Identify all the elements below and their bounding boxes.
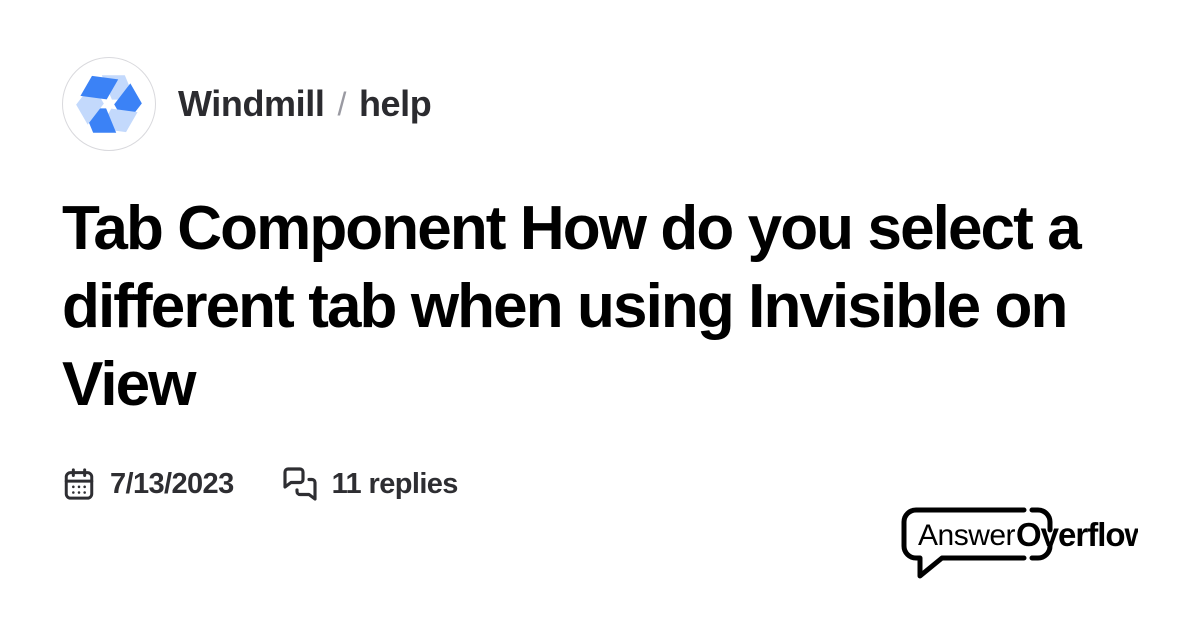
messages-square-icon [282,466,318,502]
reply-count: 11 replies [332,470,458,499]
breadcrumb: Windmill / help [178,86,431,122]
breadcrumb-server-name: Windmill [178,86,324,122]
server-header: Windmill / help [62,56,1138,152]
calendar-icon [62,467,96,501]
thread-meta: 7/13/2023 11 replies [62,466,458,502]
open-graph-card: Windmill / help Tab Component How do you… [0,0,1200,630]
windmill-pinwheel-logo-icon [73,68,145,140]
meta-item-replies: 11 replies [282,466,458,502]
answer-overflow-light-word: Answer [918,519,1016,552]
breadcrumb-channel-name: help [359,86,431,122]
breadcrumb-separator: / [337,88,346,120]
thread-date: 7/13/2023 [110,470,234,499]
answer-overflow-bold-word: Overflow [1016,516,1138,553]
page-title: Tab Component How do you select a differ… [62,190,1138,424]
avatar [62,57,156,151]
answer-overflow-logo-icon: Answer Overflow [898,504,1138,582]
meta-item-date: 7/13/2023 [62,467,234,501]
